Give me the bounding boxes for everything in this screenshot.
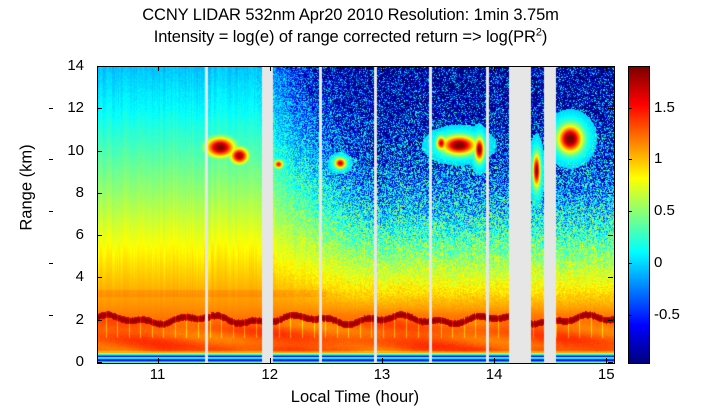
y-tick-mark (608, 66, 613, 67)
colorbar[interactable] (628, 66, 650, 364)
heatmap-plot-area[interactable] (97, 66, 615, 364)
y-tick-mark (608, 193, 613, 194)
x-tick-mark (494, 66, 495, 71)
colorbar-tick-mark (628, 315, 632, 316)
colorbar-tick-mark (49, 108, 53, 109)
title-line-2-main: Intensity = log(e) of range corrected re… (154, 28, 536, 46)
title-line-1: CCNY LIDAR 532nm Apr20 2010 Resolution: … (0, 4, 701, 26)
y-tick-label-0: 0 (24, 353, 84, 370)
y-axis-label: Range (km) (18, 108, 37, 268)
colorbar-tick-mark (628, 159, 632, 160)
x-tick-label-12: 12 (240, 366, 300, 383)
colorbar-gradient (629, 67, 649, 363)
y-tick-mark (608, 277, 613, 278)
x-tick-mark (158, 66, 159, 71)
x-tick-mark (494, 358, 495, 363)
x-tick-mark (270, 66, 271, 71)
colorbar-tick-mark (49, 315, 53, 316)
x-tick-label-15: 15 (576, 366, 636, 383)
y-tick-mark (608, 235, 613, 236)
title-line-2-close: ) (542, 28, 547, 46)
y-tick-mark (97, 362, 102, 363)
y-tick-mark (97, 151, 102, 152)
y-tick-label-4: 4 (24, 268, 84, 285)
colorbar-tick-label: -0.5 (654, 306, 680, 323)
y-tick-mark (608, 362, 613, 363)
y-tick-label-14: 14 (24, 57, 84, 74)
title-line-2: Intensity = log(e) of range corrected re… (0, 26, 701, 48)
y-tick-mark (97, 320, 102, 321)
figure-title: CCNY LIDAR 532nm Apr20 2010 Resolution: … (0, 4, 701, 48)
x-tick-mark (606, 358, 607, 363)
colorbar-tick-mark (628, 108, 632, 109)
colorbar-tick-mark (628, 263, 632, 264)
lidar-heatmap-canvas (98, 67, 614, 363)
y-tick-mark (608, 320, 613, 321)
x-tick-label-13: 13 (352, 366, 412, 383)
colorbar-tick-mark (49, 211, 53, 212)
colorbar-tick-mark (49, 263, 53, 264)
colorbar-tick-label: 1 (654, 150, 662, 167)
colorbar-tick-label: 1.5 (654, 99, 675, 116)
y-tick-mark (97, 66, 102, 67)
y-tick-mark (97, 108, 102, 109)
colorbar-tick-label: 0.5 (654, 202, 675, 219)
x-tick-label-11: 11 (128, 366, 188, 383)
x-tick-mark (158, 358, 159, 363)
y-tick-mark (97, 193, 102, 194)
lidar-figure: CCNY LIDAR 532nm Apr20 2010 Resolution: … (0, 0, 701, 419)
y-tick-mark (97, 277, 102, 278)
y-tick-label-2: 2 (24, 311, 84, 328)
y-tick-mark (608, 151, 613, 152)
x-axis-label: Local Time (hour) (97, 388, 613, 407)
x-tick-mark (382, 358, 383, 363)
colorbar-tick-mark (49, 159, 53, 160)
x-tick-mark (606, 66, 607, 71)
x-tick-mark (382, 66, 383, 71)
colorbar-tick-label: 0 (654, 254, 662, 271)
x-tick-label-14: 14 (464, 366, 524, 383)
y-tick-mark (608, 108, 613, 109)
x-tick-mark (270, 358, 271, 363)
y-tick-mark (97, 235, 102, 236)
colorbar-tick-mark (628, 211, 632, 212)
